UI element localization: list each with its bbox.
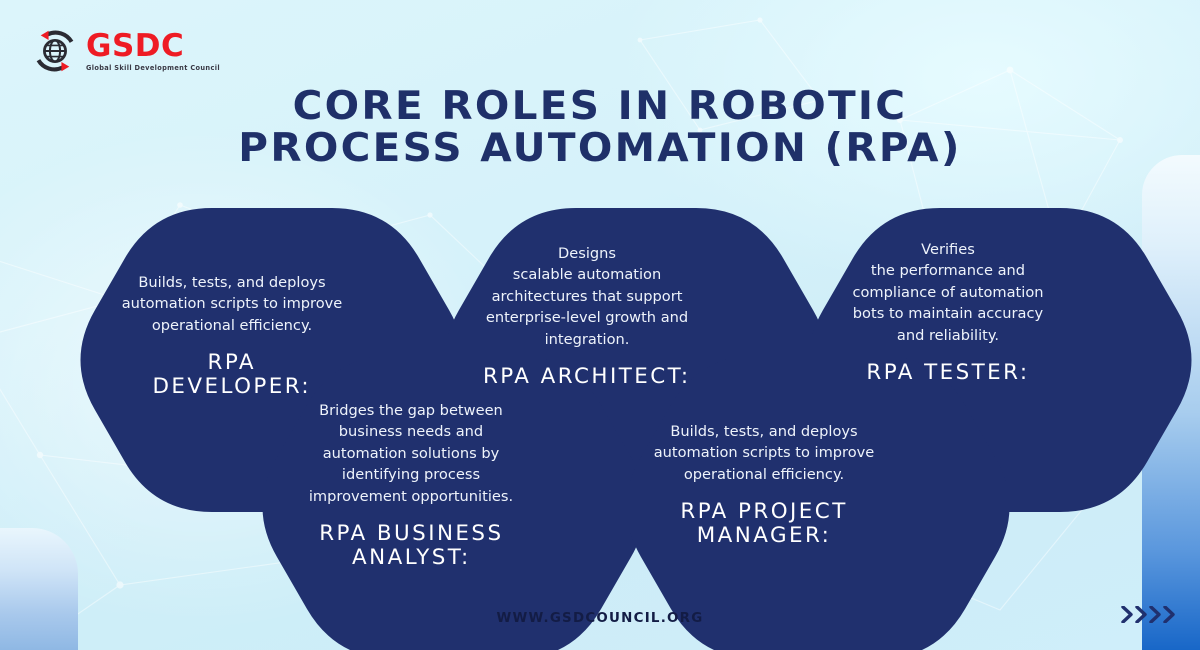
role-title: RPA Project Manager:: [680, 499, 847, 547]
role-description: Builds, tests, and deploys automation sc…: [122, 272, 343, 336]
infographic-canvas: GSDC Global Skill Development Council Co…: [0, 0, 1200, 650]
role-card-rpa-developer[interactable]: Builds, tests, and deploys automation sc…: [108, 272, 356, 399]
chevron-right-icon: [1135, 606, 1148, 623]
chevron-right-icon: [1163, 606, 1176, 623]
role-card-rpa-project-manager[interactable]: Builds, tests, and deploys automation sc…: [640, 421, 888, 548]
role-card-rpa-business-analyst[interactable]: Bridges the gap between business needs a…: [290, 400, 532, 569]
role-description: Designs scalable automation architecture…: [486, 243, 688, 350]
chevron-right-icon: [1121, 606, 1134, 623]
chevron-decoration: [1121, 606, 1176, 623]
role-title: RPA Developer:: [153, 350, 312, 398]
role-description: Builds, tests, and deploys automation sc…: [654, 421, 875, 485]
role-title: RPA Business Analyst:: [319, 521, 503, 569]
role-card-rpa-tester[interactable]: Verifies the performance and compliance …: [826, 239, 1070, 384]
chevron-right-icon: [1149, 606, 1162, 623]
role-title: RPA Architect:: [483, 364, 691, 388]
role-card-rpa-architect[interactable]: Designs scalable automation architecture…: [462, 243, 712, 388]
footer-website-url[interactable]: WWW.GSDCOUNCIL.ORG: [0, 611, 1200, 626]
role-description: Bridges the gap between business needs a…: [309, 400, 513, 507]
role-description: Verifies the performance and compliance …: [852, 239, 1043, 346]
role-title: RPA Tester:: [866, 360, 1029, 384]
